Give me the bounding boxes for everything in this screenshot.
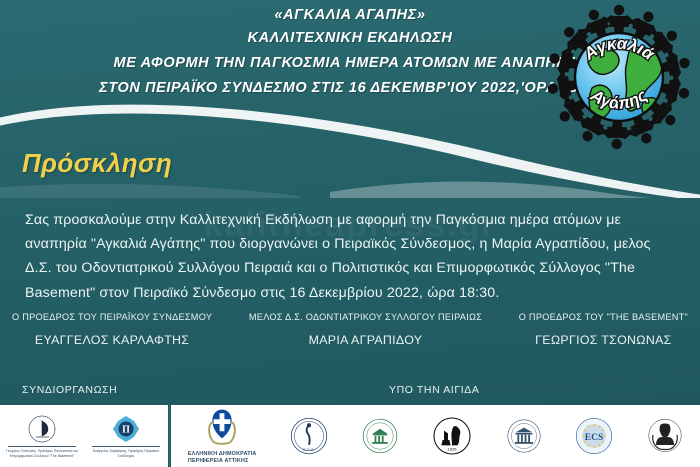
peiraikos-syndesmos-seal <box>506 418 542 454</box>
ecs-seal-icon: ECS <box>575 417 613 455</box>
aegis-label: ΥΠΟ ΤΗΝ ΑΙΓΙΔΑ <box>389 384 479 396</box>
signatory-name: ΓΕΩΡΓΙΟΣ ΤΣΟΝΩΝΑΣ <box>519 333 688 347</box>
logo-caption: Ευάγγελος Καρλάφτης, Πρόεδρος Πειραϊκού … <box>89 449 163 458</box>
signature-rule <box>92 446 160 447</box>
invitation-title: Πρόσκληση <box>22 148 172 179</box>
signatory-1: Ο ΠΡΟΕΔΡΟΣ ΤΟΥ ΠΕΙΡΑΪΚΟΥ ΣΥΝΔΕΣΜΟΥ ΕΥΑΓΓ… <box>12 312 212 347</box>
dimos-year: 1835 <box>447 447 457 452</box>
region-attica-line2: ΠΕΡΙΦΕΡΕΙΑ ΑΤΤΙΚΗΣ <box>188 458 257 465</box>
region-attica-line1: ΕΛΛΗΝΙΚΗ ΔΗΜΟΚΡΑΤΙΑ <box>188 451 257 458</box>
invitation-body: Σας προσκαλούμε στην Καλλιτεχνική Εκδήλω… <box>25 208 675 305</box>
eoo-logo: Ε.Ο.Ο. <box>290 417 328 455</box>
signatories: Ο ΠΡΟΕΔΡΟΣ ΤΟΥ ΠΕΙΡΑΪΚΟΥ ΣΥΝΔΕΣΜΟΥ ΕΥΑΓΓ… <box>12 312 688 347</box>
sponsor-logo-strip: Γεώργιος Τσονώνας, Πρόεδρος Πολιτιστικού… <box>0 405 700 467</box>
parthenon-seal-icon <box>506 418 542 454</box>
dimos-peiraia-logo: 1835 <box>432 416 472 456</box>
co-organization-label: ΣΥΝΔΙΟΡΓΑΝΩΣΗ <box>22 384 117 396</box>
bust-emblem-logo <box>647 417 683 455</box>
ecs-label: ECS <box>585 433 603 443</box>
eoo-label: Ε.Ο.Ο. <box>303 448 315 452</box>
signature-rule <box>8 446 76 447</box>
signatory-name: ΕΥΑΓΓΕΛΟΣ ΚΑΡΛΑΦΤΗΣ <box>12 333 212 347</box>
invitation-poster: kalitheapress.gr «ΑΓΚΑΛΙΑ ΑΓΑΠΗΣ» ΚΑΛΛΙΤ… <box>0 0 700 467</box>
the-basement-icon <box>27 414 57 444</box>
svg-text:Π: Π <box>122 425 130 436</box>
agkalia-agapis-logo: Αγκαλιά Αγάπης <box>544 2 694 152</box>
signatory-name: ΜΑΡΙΑ ΑΓΡΑΠΙΔΟΥ <box>249 333 482 347</box>
bust-portrait-icon <box>647 417 683 455</box>
region-attica-logo: ΕΛΛΗΝΙΚΗ ΔΗΜΟΚΡΑΤΙΑ ΠΕΡΙΦΕΡΕΙΑ ΑΤΤΙΚΗΣ <box>188 407 257 464</box>
peiraikos-syndesmos-icon: Π <box>111 414 141 444</box>
odontiatrikos-syllogos-peiraia-logo <box>362 418 398 454</box>
signatory-role: ΜΕΛΟΣ Δ.Σ. ΟΔΟΝΤΙΑΤΡΙΚΟΥ ΣΥΛΛΟΓΟΥ ΠΕΙΡΑΙ… <box>249 312 482 322</box>
dental-association-seal-icon <box>362 418 398 454</box>
ecs-logo: ECS <box>575 417 613 455</box>
peiraikos-syndesmos-logo: Π Ευάγγελος Καρλάφτης, Πρόεδρος Πειραϊκο… <box>89 414 163 458</box>
the-basement-logo: Γεώργιος Τσονώνας, Πρόεδρος Πολιτιστικού… <box>5 414 79 458</box>
logo-caption: Γεώργιος Τσονώνας, Πρόεδρος Πολιτιστικού… <box>5 449 79 458</box>
co-organization-logos: Γεώργιος Τσονώνας, Πρόεδρος Πολιτιστικού… <box>0 405 168 467</box>
eoo-seal-icon: Ε.Ο.Ο. <box>290 417 328 455</box>
signatory-2: ΜΕΛΟΣ Δ.Σ. ΟΔΟΝΤΙΑΤΡΙΚΟΥ ΣΥΛΛΟΓΟΥ ΠΕΙΡΑΙ… <box>249 312 482 347</box>
greek-coat-of-arms-icon <box>204 407 240 447</box>
signatory-role: Ο ΠΡΟΕΔΡΟΣ ΤΟΥ "THE BASEMENT" <box>519 312 688 322</box>
signatory-role: Ο ΠΡΟΕΔΡΟΣ ΤΟΥ ΠΕΙΡΑΪΚΟΥ ΣΥΝΔΕΣΜΟΥ <box>12 312 212 322</box>
municipality-piraeus-seal-icon: 1835 <box>432 416 472 456</box>
aegis-logos: ΕΛΛΗΝΙΚΗ ΔΗΜΟΚΡΑΤΙΑ ΠΕΡΙΦΕΡΕΙΑ ΑΤΤΙΚΗΣ Ε… <box>171 405 700 467</box>
signatory-3: Ο ΠΡΟΕΔΡΟΣ ΤΟΥ "THE BASEMENT" ΓΕΩΡΓΙΟΣ Τ… <box>519 312 688 347</box>
